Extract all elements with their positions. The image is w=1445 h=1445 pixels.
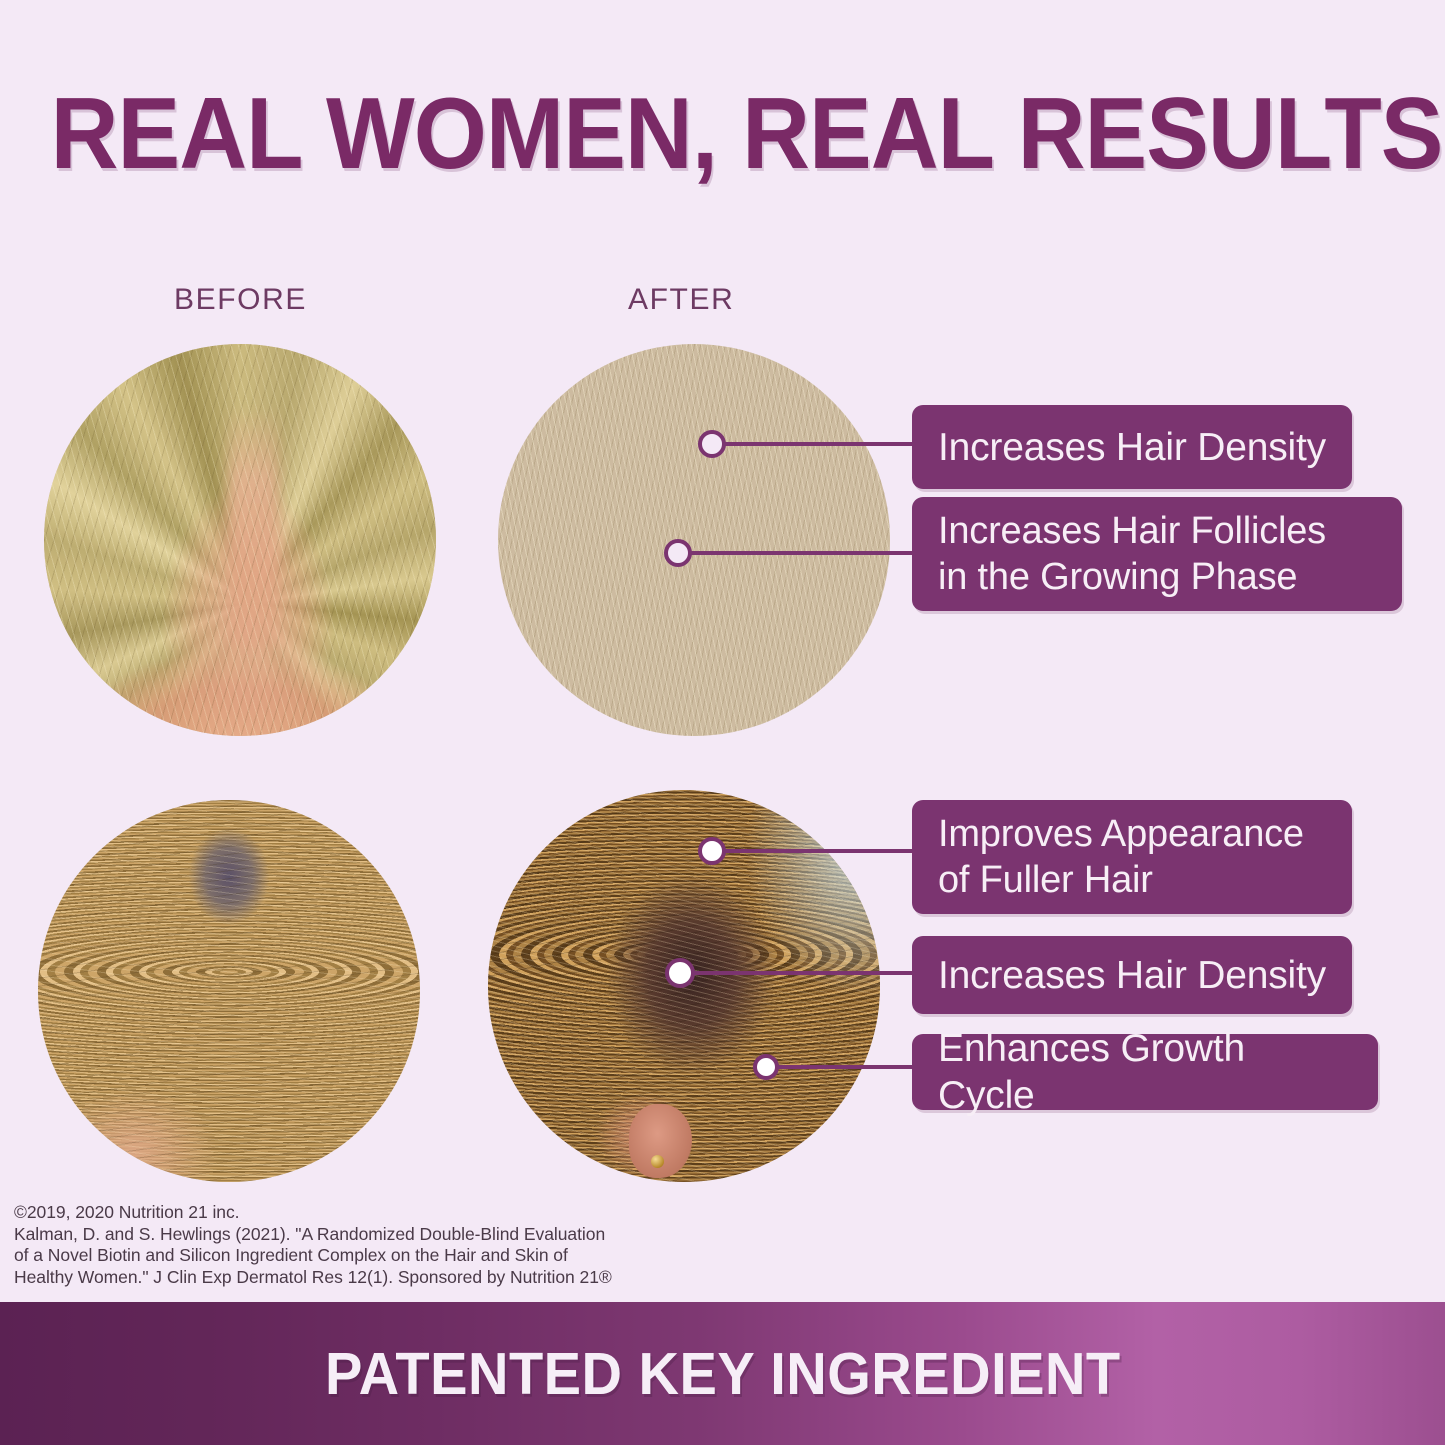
- callout-label: Enhances Growth Cycle: [938, 1025, 1352, 1119]
- before-bottom-hair-strands: [38, 800, 420, 1182]
- callout-increases-hair-density-bottom[interactable]: Increases Hair Density: [912, 936, 1352, 1014]
- after-bottom-photo: [488, 790, 880, 1182]
- callout-label: Increases Hair Density: [938, 952, 1326, 999]
- bottom-banner-text: PATENTED KEY INGREDIENT: [325, 1340, 1121, 1408]
- callout-label-line1: Increases Hair Follicles: [938, 508, 1326, 554]
- callout-label-wrap: Improves Appearance of Fuller Hair: [938, 811, 1304, 903]
- bottom-banner: PATENTED KEY INGREDIENT: [0, 1302, 1445, 1445]
- earring-icon: [651, 1155, 664, 1168]
- callout-increases-hair-density-top[interactable]: Increases Hair Density: [912, 405, 1352, 489]
- before-bottom-photo: [38, 800, 420, 1182]
- citation-line-3: of a Novel Biotin and Silicon Ingredient…: [14, 1245, 654, 1267]
- callout-label-line2: of Fuller Hair: [938, 857, 1304, 903]
- after-top-hair-strands: [498, 344, 890, 736]
- citation-line-2: Kalman, D. and S. Hewlings (2021). "A Ra…: [14, 1224, 654, 1246]
- citation-footnote: ©2019, 2020 Nutrition 21 inc. Kalman, D.…: [14, 1202, 654, 1288]
- callout-label-line2: in the Growing Phase: [938, 554, 1326, 600]
- callout-enhances-growth-cycle[interactable]: Enhances Growth Cycle: [912, 1034, 1378, 1110]
- before-column-label: BEFORE: [174, 283, 307, 317]
- citation-line-4: Healthy Women." J Clin Exp Dermatol Res …: [14, 1267, 654, 1289]
- after-bottom-photo-backdrop: [731, 790, 880, 1017]
- before-top-hair-strands: [44, 344, 436, 736]
- callout-label-line1: Improves Appearance: [938, 811, 1304, 857]
- citation-line-1: ©2019, 2020 Nutrition 21 inc.: [14, 1202, 654, 1224]
- page-title: REAL WOMEN, REAL RESULTS!: [51, 84, 1395, 185]
- callout-label-wrap: Increases Hair Follicles in the Growing …: [938, 508, 1326, 600]
- before-top-photo: [44, 344, 436, 736]
- poster-root: REAL WOMEN, REAL RESULTS! BEFORE AFTER: [0, 0, 1445, 1445]
- callout-label: Increases Hair Density: [938, 424, 1326, 471]
- after-column-label: AFTER: [628, 283, 734, 317]
- callout-improves-appearance[interactable]: Improves Appearance of Fuller Hair: [912, 800, 1352, 914]
- callout-increases-hair-follicles[interactable]: Increases Hair Follicles in the Growing …: [912, 497, 1402, 611]
- after-top-photo: [498, 344, 890, 736]
